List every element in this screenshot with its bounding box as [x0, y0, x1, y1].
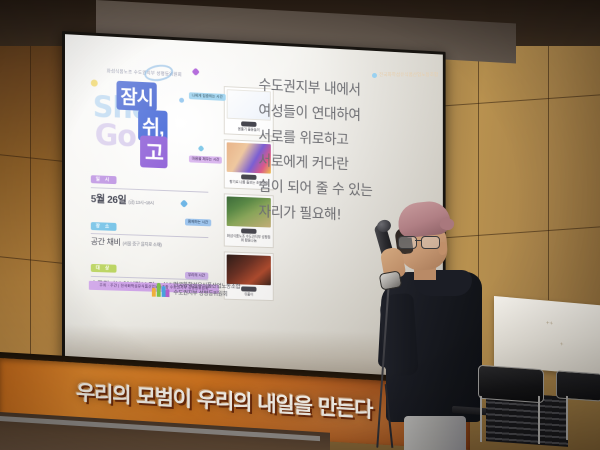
program-card-image	[227, 254, 271, 285]
program-card-badge	[241, 228, 256, 233]
union-logo-icon	[152, 281, 170, 297]
poster-info-place: 공간 채비	[91, 237, 121, 247]
poster-info-tag: 대 상	[91, 264, 116, 273]
photo-scene: 화섬식품노조 수도권지부 성평등위원회 She Go 잠시 쉬, 고 일 시	[0, 0, 600, 450]
poster-side-chip: 우리의 시간	[185, 272, 208, 280]
poster-info-tag: 일 시	[91, 175, 116, 184]
poster-dot-yellow	[91, 79, 98, 86]
banner-credit-icon	[372, 73, 377, 78]
chair-leg	[538, 396, 540, 444]
poster-swirl-decoration	[143, 63, 175, 83]
poster-title-block: 화섬식품노조 수도권지부 성평등위원회 She Go 잠시 쉬, 고	[87, 63, 234, 165]
poster-info-value: 공간 채비 (서울 중구 을지로 소재)	[91, 236, 209, 251]
program-card-badge	[241, 286, 256, 291]
chair-seat-back	[556, 370, 600, 401]
poster-ghost-word-go: Go	[95, 118, 136, 154]
banner-credit: 전국화학섬유식품산업노동조합	[372, 72, 438, 78]
glasses-lens-right	[421, 236, 440, 249]
union-logo-text: 전국화학섬유식품산업노동조합 수도권지부 성평등위원회	[173, 281, 240, 300]
poster-title-line-3: 고	[140, 135, 168, 168]
poster-info-place-note: (서울 중구 을지로 소재)	[123, 241, 162, 247]
poster-info-row: 일 시 5월 26일 (금) 13시~18시	[91, 167, 209, 209]
union-logo: 전국화학섬유식품산업노동조합 수도권지부 성평등위원회	[152, 281, 241, 300]
glasses-bridge	[415, 240, 421, 241]
program-card-badge	[241, 121, 256, 127]
whiteboard: ++ +	[494, 296, 600, 375]
poster-info-date: 5월 26일	[91, 194, 127, 206]
banner-credit-text: 전국화학섬유식품산업노동조합	[379, 72, 438, 78]
program-card-label: 화섬식품노조 수도권지부 성평등위 활동나눔	[227, 234, 271, 245]
whiteboard-marks: ++	[546, 321, 553, 328]
presenter-glasses	[398, 236, 442, 247]
poster-title-line-1: 잠시	[117, 81, 157, 112]
chair-seat-front	[478, 365, 544, 404]
presenter-trousers	[404, 416, 466, 450]
poster-info-value: 5월 26일 (금) 13시~18시	[91, 190, 209, 209]
poster-side-chip: 마음을 채우는 시간	[189, 155, 222, 163]
poster-dot-blue	[179, 98, 184, 103]
wall-seam	[30, 10, 31, 382]
poster-info-tag: 장 소	[91, 222, 116, 231]
chair-leg	[566, 396, 568, 440]
whiteboard-marks: +	[560, 342, 564, 348]
chair-leg	[480, 396, 482, 442]
poster-side-chip: 함께하는 시간	[185, 219, 211, 227]
poster-info-date-note: (금) 13시~18시	[128, 199, 154, 205]
glasses-lens-left	[398, 236, 417, 249]
